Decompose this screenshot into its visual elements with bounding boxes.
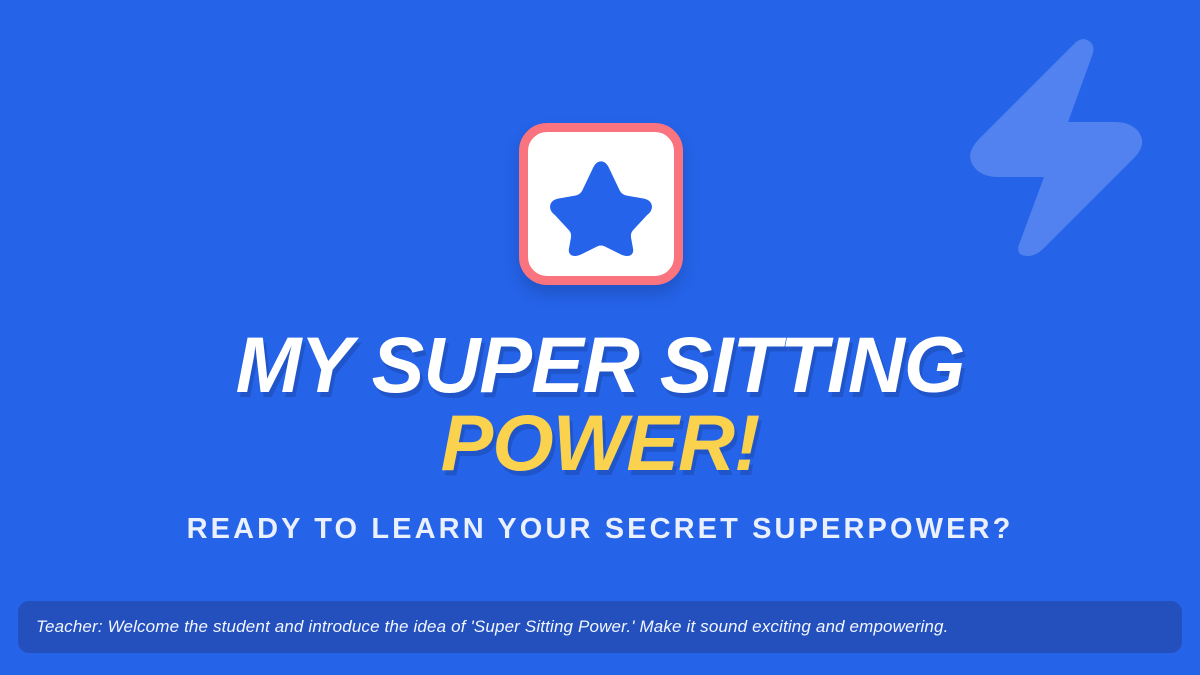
page-title: MY SUPER SITTING POWER! — [0, 326, 1200, 482]
lightning-bolt-icon — [958, 34, 1148, 259]
teacher-note-text: Teacher: Welcome the student and introdu… — [36, 617, 949, 637]
star-icon — [549, 153, 653, 257]
teacher-note-bar: Teacher: Welcome the student and introdu… — [18, 601, 1182, 653]
title-line-accent: POWER! — [0, 404, 1200, 482]
subtitle: READY TO LEARN YOUR SECRET SUPERPOWER? — [0, 513, 1200, 546]
star-badge-card — [519, 123, 683, 285]
title-line-primary: MY SUPER SITTING — [0, 326, 1200, 404]
slide-canvas: MY SUPER SITTING POWER! READY TO LEARN Y… — [0, 0, 1200, 675]
